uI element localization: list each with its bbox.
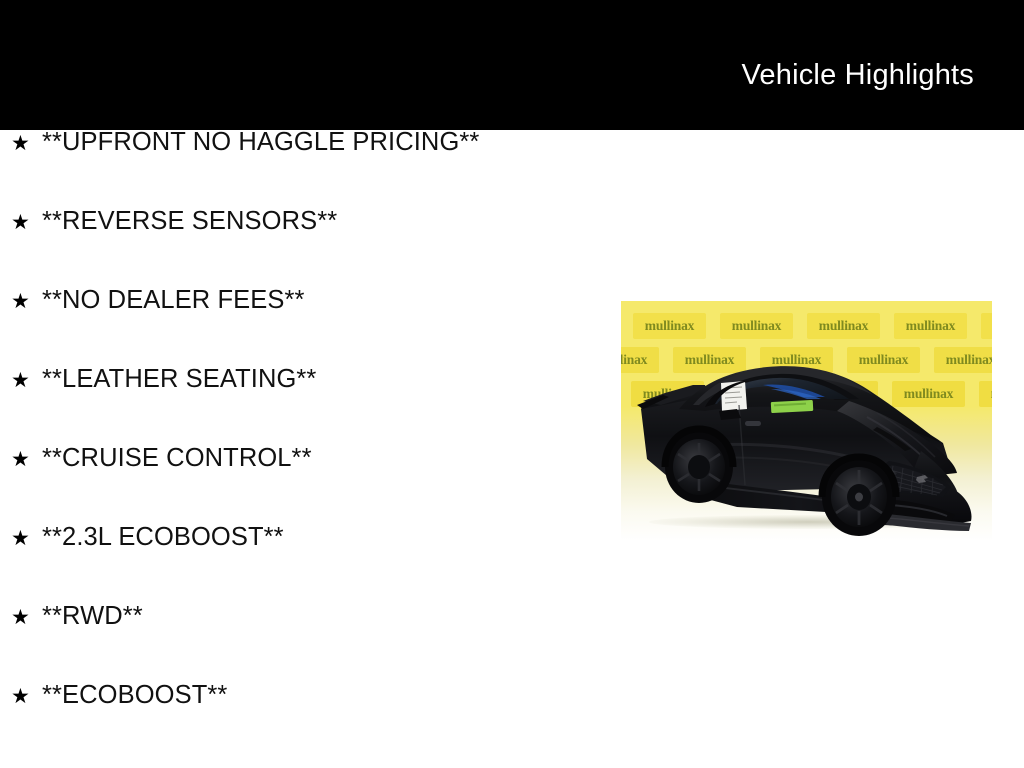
vehicle-highlights-list: ★ **UPFRONT NO HAGGLE PRICING** ★ **REVE…	[0, 130, 620, 762]
highlight-label: **NO DEALER FEES**	[42, 288, 305, 314]
star-icon: ★	[11, 686, 42, 707]
highlight-label: **CRUISE CONTROL**	[42, 446, 312, 472]
highlight-label: **LEATHER SEATING**	[42, 367, 316, 393]
list-item: ★ **NO DEALER FEES**	[0, 288, 620, 367]
star-icon: ★	[11, 212, 42, 233]
list-item: ★ **UPFRONT NO HAGGLE PRICING**	[0, 130, 620, 209]
star-icon: ★	[11, 133, 42, 154]
vehicle-photo: mullinaxmullinaxmullinaxmullinaxmullinax…	[621, 301, 992, 541]
highlight-label: **RWD**	[42, 604, 143, 630]
highlight-label: **2.3L ECOBOOST**	[42, 525, 284, 551]
highlight-label: **UPFRONT NO HAGGLE PRICING**	[42, 130, 479, 156]
car-illustration	[621, 301, 992, 541]
list-item: ★ **REVERSE SENSORS**	[0, 209, 620, 288]
star-icon: ★	[11, 370, 42, 391]
vehicle-highlights-page: Vehicle Highlights ★ **UPFRONT NO HAGGLE…	[0, 0, 1024, 768]
page-header: Vehicle Highlights	[0, 0, 1024, 130]
page-title: Vehicle Highlights	[741, 39, 1024, 92]
highlight-label: **ECOBOOST**	[42, 683, 227, 709]
list-item: ★ **ECOBOOST**	[0, 683, 620, 762]
star-icon: ★	[11, 528, 42, 549]
star-icon: ★	[11, 607, 42, 628]
star-icon: ★	[11, 449, 42, 470]
list-item: ★ **2.3L ECOBOOST**	[0, 525, 620, 604]
list-item: ★ **LEATHER SEATING**	[0, 367, 620, 446]
list-item: ★ **RWD**	[0, 604, 620, 683]
highlight-label: **REVERSE SENSORS**	[42, 209, 337, 235]
star-icon: ★	[11, 291, 42, 312]
list-item: ★ **CRUISE CONTROL**	[0, 446, 620, 525]
